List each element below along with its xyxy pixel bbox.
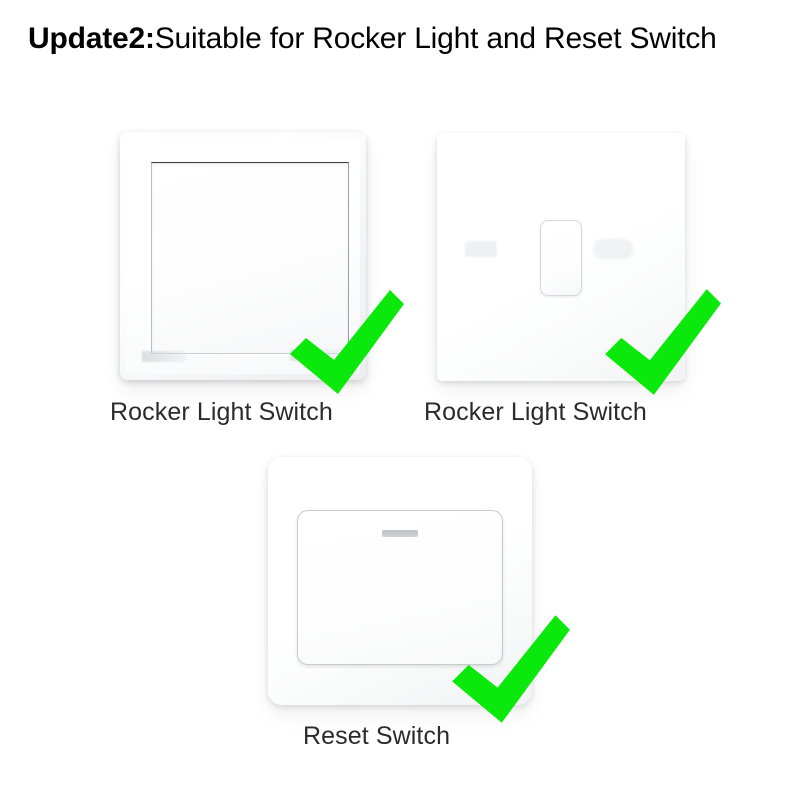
caption-rocker-light-switch-1: Rocker Light Switch [110, 400, 333, 425]
caption-reset-switch: Reset Switch [303, 724, 450, 749]
caption-rocker-light-switch-2: Rocker Light Switch [424, 400, 647, 425]
rocker-toggle[interactable] [540, 220, 582, 296]
plate-shading-left [465, 241, 497, 257]
product-feature-image: Update2:Suitable for Rocker Light and Re… [0, 0, 800, 800]
brand-mark-left [142, 351, 186, 362]
page-title-rest: Suitable for Rocker Light and Reset Swit… [155, 22, 717, 55]
check-mark-icon [286, 282, 406, 402]
plate-shading-right [593, 239, 633, 259]
check-mark-icon [601, 281, 723, 403]
page-title: Update2:Suitable for Rocker Light and Re… [28, 18, 748, 61]
led-indicator-icon [382, 530, 418, 537]
check-mark-icon [448, 607, 572, 731]
page-title-lead: Update2: [28, 22, 155, 55]
